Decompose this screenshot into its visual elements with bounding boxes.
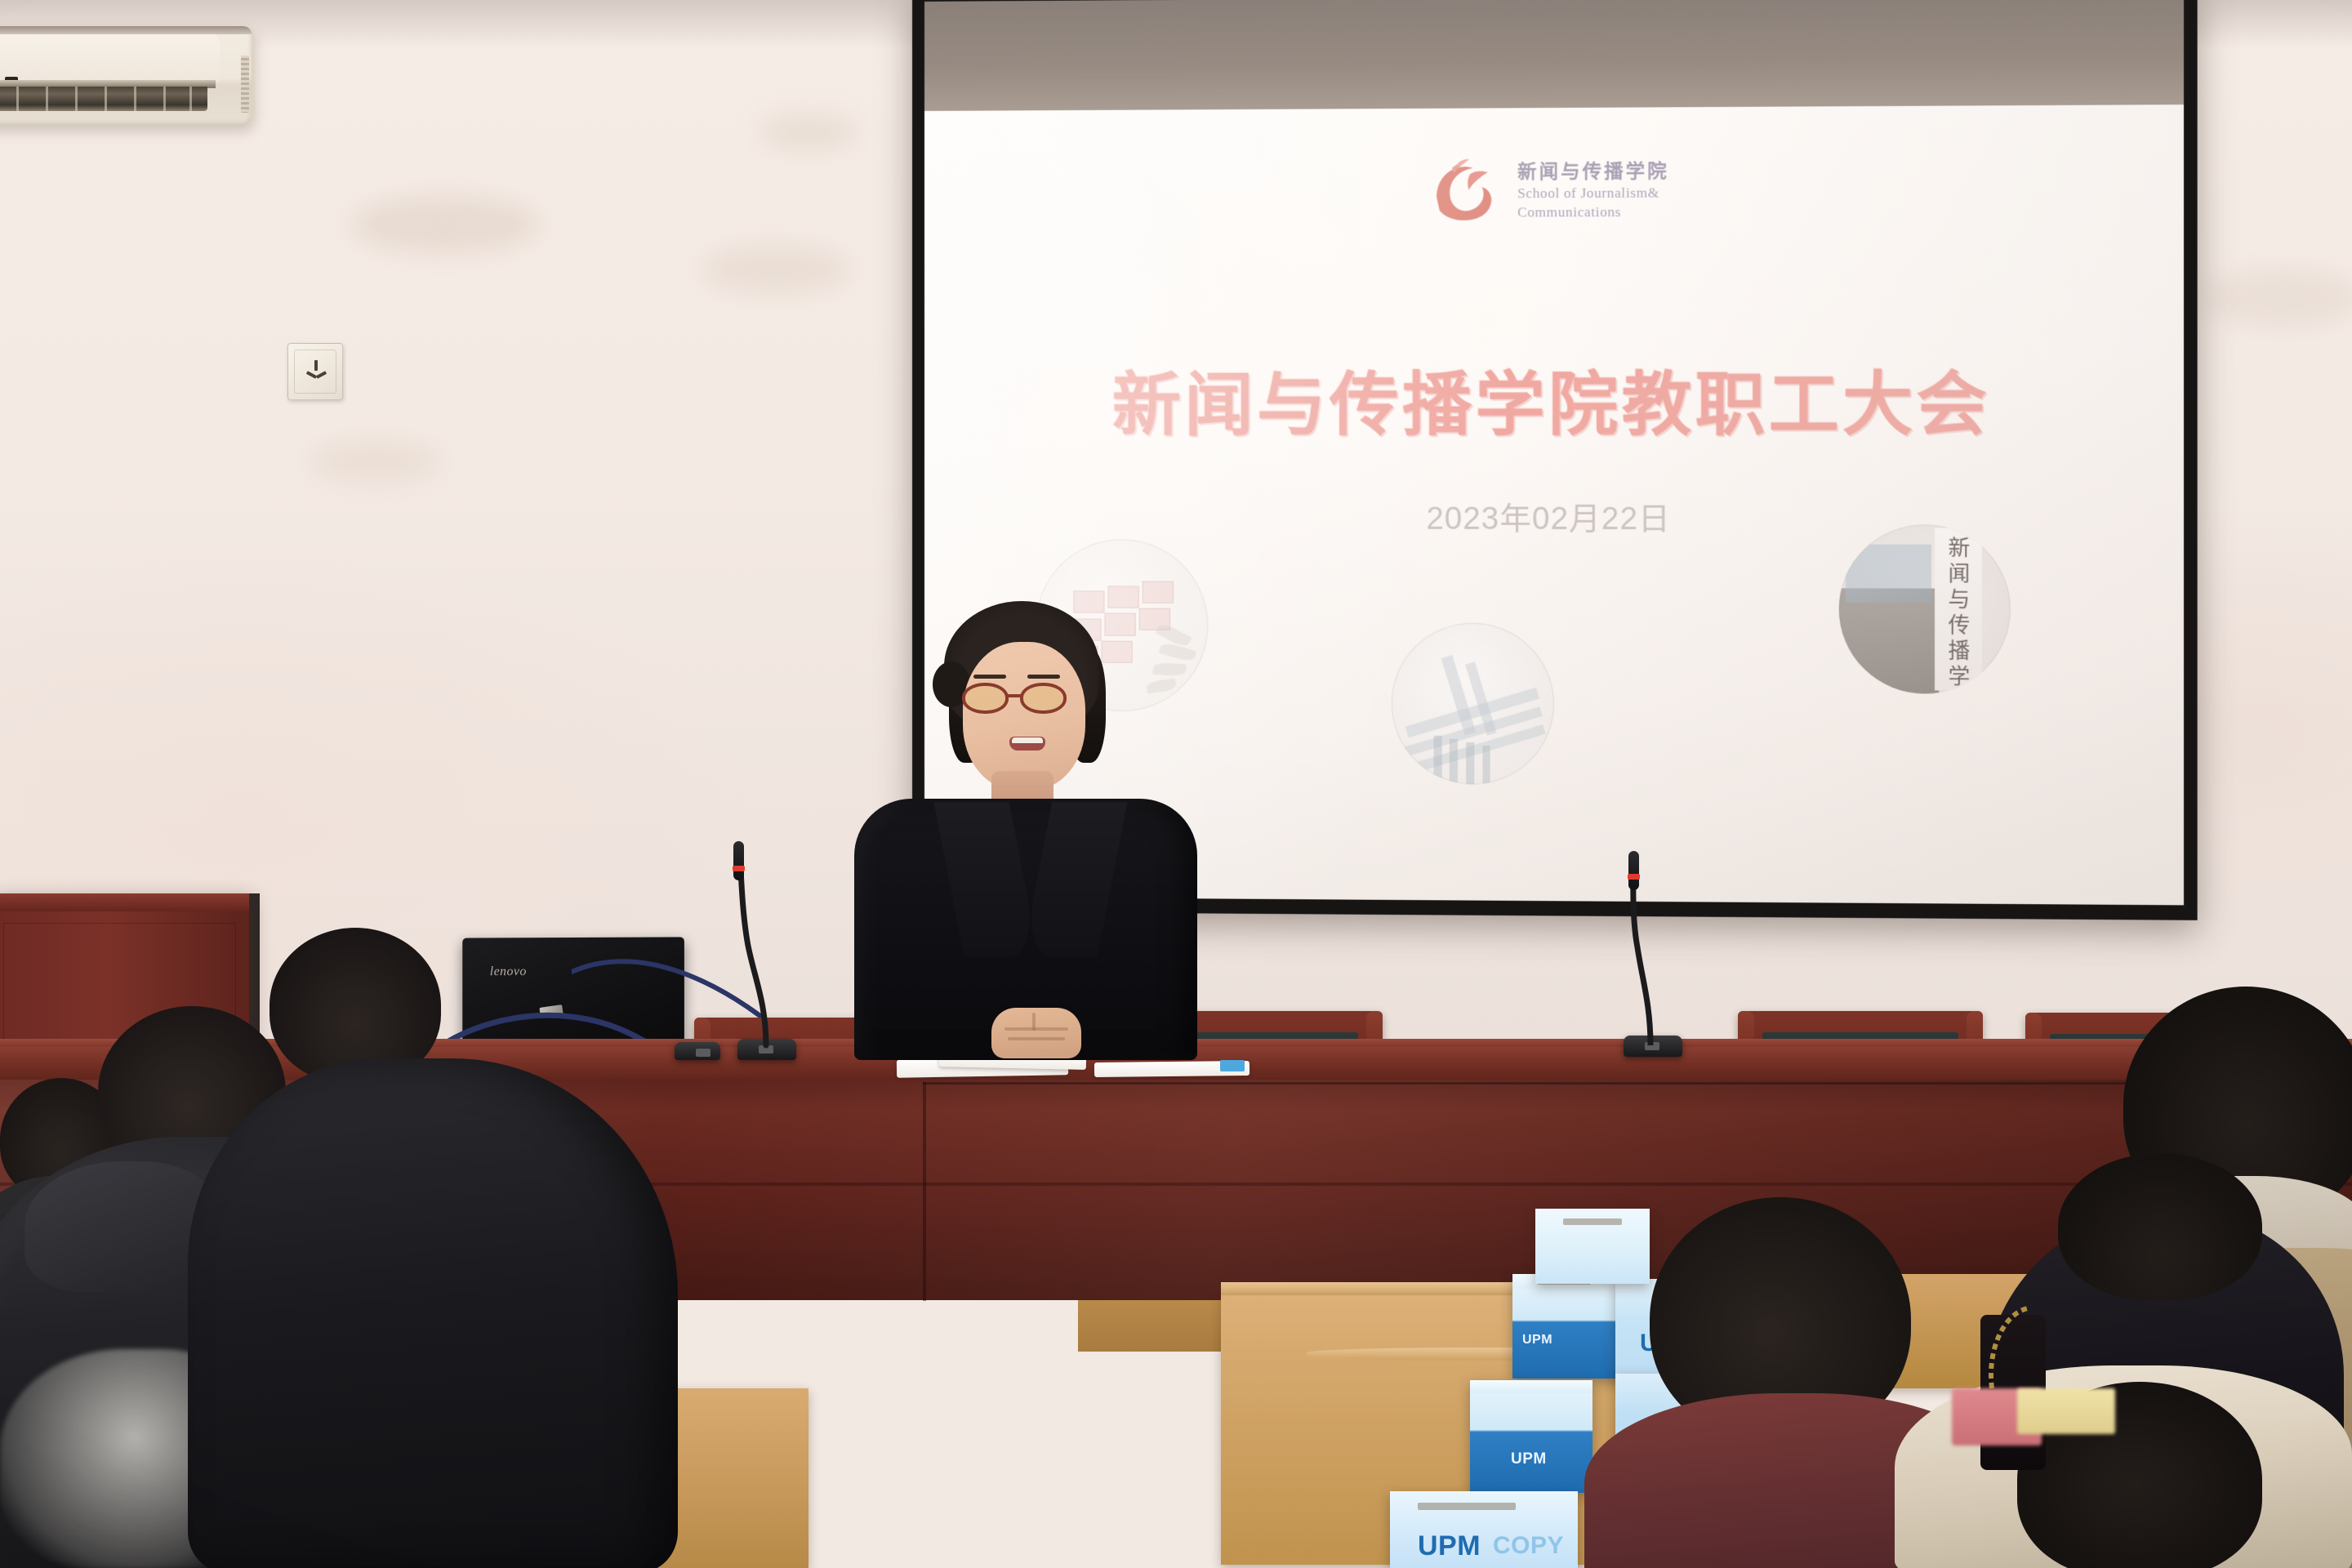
wall-stain (702, 245, 849, 294)
wall-stain (2205, 269, 2352, 327)
logo-chinese-name: 新闻与传播学院 (1517, 162, 1669, 183)
ac-front-panel (0, 34, 220, 82)
ac-grille (0, 87, 207, 111)
paper-box: UPM (1470, 1380, 1592, 1493)
table-seam (923, 1082, 926, 1301)
eyeglasses-icon (1020, 683, 1067, 714)
conference-room-scene: 新闻与传播学院 School of Journalism& Communicat… (0, 0, 2352, 1568)
logo-english-line-1: School of Journalism& (1517, 184, 1669, 202)
photo-building-facade (1392, 623, 1554, 785)
slide-title: 新闻与传播学院教职工大会 (1112, 349, 1991, 449)
audience-head (2058, 1153, 2262, 1300)
presenter (854, 601, 1197, 1058)
slide-logo: 新闻与传播学院 School of Journalism& Communicat… (1428, 154, 1668, 228)
blue-marker (1220, 1060, 1245, 1071)
presenter-hands (991, 1008, 1081, 1058)
presenter-face (963, 642, 1085, 791)
slide-date: 2023年02月22日 (1426, 493, 1671, 539)
ac-side-vent (241, 56, 249, 113)
paper-box: UPM COPY (1390, 1491, 1578, 1568)
microphone-status-ring (733, 866, 745, 871)
wall-stain (759, 114, 857, 150)
school-emblem-icon (1428, 155, 1500, 228)
microphone-status-ring (1628, 874, 1640, 880)
eyeglasses-icon (962, 683, 1009, 714)
microphone-gooseneck (1605, 849, 1719, 1045)
handbag-chain-icon (1980, 1298, 2062, 1396)
microphone-head (733, 841, 744, 880)
photo-school-sign: 新闻与传 播学院 (1839, 524, 2011, 694)
microphone-head (1628, 851, 1639, 890)
ac-top-edge (0, 26, 252, 34)
sign-vertical-text: 新闻与传 播学院 (1942, 538, 1976, 694)
wall-power-socket-icon (287, 343, 343, 400)
audience-far-right (1895, 1333, 2352, 1568)
screen-inactive-area (924, 0, 2184, 111)
air-conditioner (0, 26, 255, 126)
audience-left-second (245, 928, 670, 1568)
yellow-note (2017, 1388, 2115, 1434)
microphone-base (675, 1042, 720, 1060)
audience-torso (188, 1058, 678, 1568)
logo-english-line-2: Communications (1517, 203, 1669, 221)
wall-stain (310, 441, 441, 482)
wall-stain (351, 196, 539, 253)
